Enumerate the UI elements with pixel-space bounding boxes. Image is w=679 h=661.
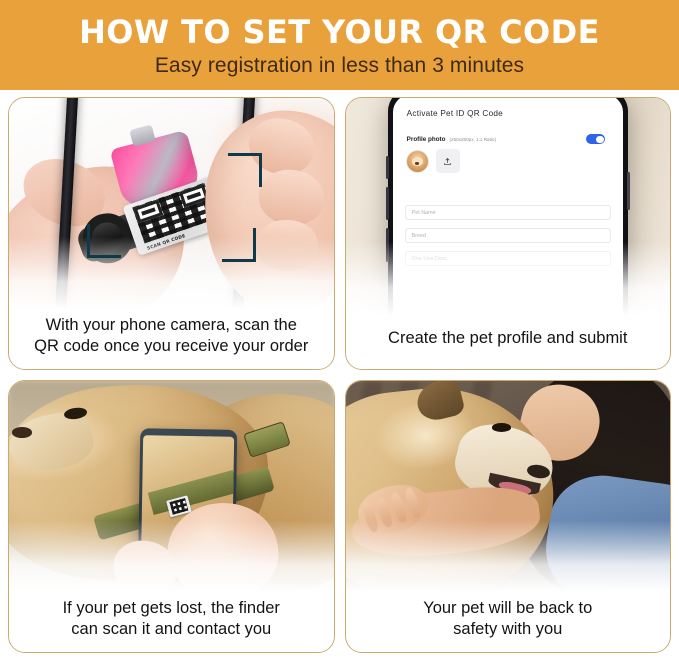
dog-eye — [492, 423, 511, 431]
profile-photo-label: Profile photo — [407, 136, 446, 143]
phone-volume-down-button[interactable] — [386, 228, 389, 261]
scan-bracket-bottom-right — [222, 228, 256, 262]
finger-3 — [255, 219, 318, 272]
avatar[interactable] — [407, 151, 428, 172]
woman-hugging-dog-photo — [346, 381, 671, 592]
step-1-caption: With your phone camera, scan the QR code… — [9, 309, 334, 369]
step-2-caption-line-1: Create the pet profile and submit — [356, 328, 661, 349]
phone-volume-up-button[interactable] — [386, 187, 389, 220]
finger-4 — [404, 488, 424, 520]
scan-bracket-top-right — [228, 153, 262, 187]
upload-button[interactable] — [436, 149, 460, 173]
step-3-media — [9, 381, 334, 592]
upload-icon — [443, 157, 452, 166]
app-screen-title: Activate Pet ID QR Code — [407, 109, 611, 118]
profile-photo-hint: (250x250px, 1:1 Ratio) — [450, 137, 496, 142]
step-card-1[interactable]: SCAN QR CODE With you — [8, 97, 335, 370]
dog-nose — [12, 427, 31, 438]
step-4-caption: Your pet will be back to safety with you — [346, 592, 671, 652]
step-3-caption-line-2: can scan it and contact you — [19, 619, 324, 640]
bottle-cap — [129, 125, 156, 147]
step-4-caption-line-2: safety with you — [356, 619, 661, 640]
step-1-caption-line-1: With your phone camera, scan the — [19, 315, 324, 336]
profile-photo-row: Profile photo (250x250px, 1:1 Ratio) — [407, 134, 611, 144]
pet-name-field[interactable]: Pet Name — [405, 205, 611, 220]
step-2-caption: Create the pet profile and submit — [346, 316, 671, 369]
step-card-3[interactable]: If your pet gets lost, the finder can sc… — [8, 380, 335, 653]
phone-screen: Activate Pet ID QR Code Profile photo (2… — [393, 98, 623, 316]
profile-photo-toggle[interactable] — [586, 134, 605, 144]
qr-code-icon — [169, 498, 189, 515]
breed-field[interactable]: Breed — [405, 228, 611, 243]
step-card-2[interactable]: Activate Pet ID QR Code Profile photo (2… — [345, 97, 672, 370]
step-1-media: SCAN QR CODE — [9, 98, 334, 309]
scan-tag-photo: SCAN QR CODE — [9, 98, 334, 309]
page-subtitle: Easy registration in less than 3 minutes — [155, 54, 524, 78]
phone-device: Activate Pet ID QR Code Profile photo (2… — [388, 98, 628, 316]
step-4-caption-line-1: Your pet will be back to — [356, 598, 661, 619]
page-title: HOW TO SET YOUR QR CODE — [79, 16, 600, 50]
phone-status-bar — [143, 436, 234, 438]
header-banner: HOW TO SET YOUR QR CODE Easy registratio… — [0, 0, 679, 90]
one-line-desc-field[interactable]: One Line Desc. — [405, 251, 611, 266]
phone-button-1[interactable] — [386, 156, 389, 179]
step-card-4[interactable]: Your pet will be back to safety with you — [345, 380, 672, 653]
step-4-media — [346, 381, 671, 592]
step-2-media: Activate Pet ID QR Code Profile photo (2… — [346, 98, 671, 316]
infographic-page: HOW TO SET YOUR QR CODE Easy registratio… — [0, 0, 679, 661]
profile-photo-controls — [407, 149, 611, 173]
phone-power-button[interactable] — [627, 172, 630, 211]
dog-collar-scan-photo — [9, 381, 334, 592]
step-3-caption: If your pet gets lost, the finder can sc… — [9, 592, 334, 652]
pet-profile-form: Pet Name Breed One Line Desc. — [405, 205, 611, 266]
step-1-caption-line-2: QR code once you receive your order — [19, 336, 324, 357]
app-mockup-photo: Activate Pet ID QR Code Profile photo (2… — [346, 98, 671, 316]
step-3-caption-line-1: If your pet gets lost, the finder — [19, 598, 324, 619]
steps-grid: SCAN QR CODE With you — [0, 90, 679, 661]
scan-bracket-bottom-left — [87, 224, 121, 258]
